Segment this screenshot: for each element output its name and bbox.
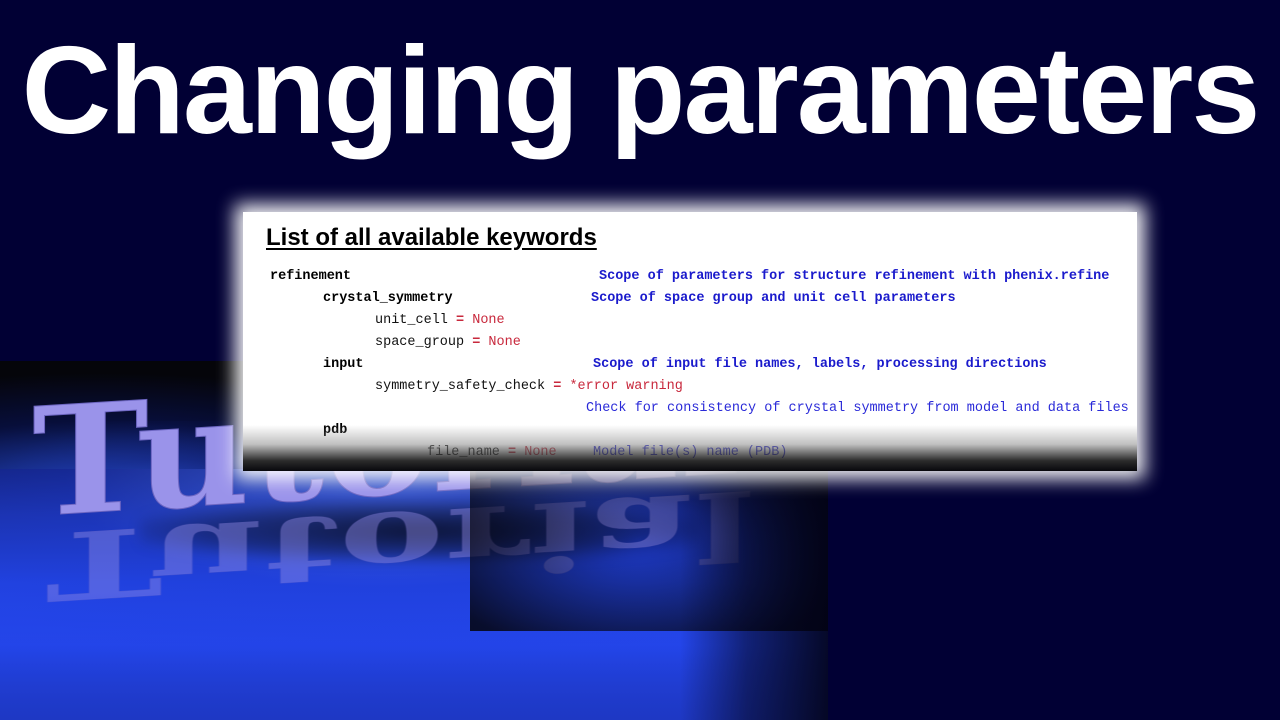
parameter-equals: = xyxy=(508,445,524,460)
keyword-doc-text: Scope of space group and unit cell param… xyxy=(591,292,956,306)
keyword-doc-text: Check for consistency of crystal symmetr… xyxy=(586,402,1129,416)
keyword-row: file_name = NoneModel file(s) name (PDB) xyxy=(243,446,1137,468)
parameter-value: *error warning xyxy=(569,379,682,394)
keyword-row: unit_cell = None xyxy=(243,314,1137,336)
keyword-row: pdb xyxy=(243,424,1137,446)
keyword-scope-name: refinement xyxy=(270,270,351,284)
panel-heading: List of all available keywords xyxy=(266,224,597,252)
parameter-equals: = xyxy=(456,313,472,328)
parameter-equals: = xyxy=(472,335,488,350)
keyword-scope-name: pdb xyxy=(323,424,347,438)
keyword-row: space_group = None xyxy=(243,336,1137,358)
keyword-panel: List of all available keywords refinemen… xyxy=(243,212,1137,471)
keyword-doc-text: Scope of parameters for structure refine… xyxy=(599,270,1109,284)
parameter-name: space_group xyxy=(375,335,472,350)
keyword-panel-container: List of all available keywords refinemen… xyxy=(243,212,1137,471)
keyword-parameter: symmetry_safety_check = *error warning xyxy=(375,380,683,394)
keyword-row: inputScope of input file names, labels, … xyxy=(243,358,1137,380)
keyword-row: symmetry_safety_check = *error warning xyxy=(243,380,1137,402)
parameter-name: unit_cell xyxy=(375,313,456,328)
keyword-parameter: file_name = None xyxy=(427,446,557,460)
slide-root: Changing parameters Tutorial Tutorial Li… xyxy=(0,0,1280,720)
keyword-doc-text: Model file(s) name (PDB) xyxy=(593,446,787,460)
keyword-row: refinementScope of parameters for struct… xyxy=(243,270,1137,292)
keyword-parameter: unit_cell = None xyxy=(375,314,505,328)
parameter-equals: = xyxy=(553,379,569,394)
page-title: Changing parameters xyxy=(0,26,1280,156)
parameter-value: None xyxy=(488,335,520,350)
keyword-doc-text: Scope of input file names, labels, proce… xyxy=(593,358,1047,372)
parameter-value: None xyxy=(524,445,556,460)
keyword-row: crystal_symmetryScope of space group and… xyxy=(243,292,1137,314)
keyword-parameter: space_group = None xyxy=(375,336,521,350)
parameter-name: file_name xyxy=(427,445,508,460)
parameter-value: None xyxy=(472,313,504,328)
keyword-list: refinementScope of parameters for struct… xyxy=(243,270,1137,468)
keyword-scope-name: input xyxy=(323,358,364,372)
parameter-name: symmetry_safety_check xyxy=(375,379,553,394)
keyword-scope-name: crystal_symmetry xyxy=(323,292,453,306)
keyword-row: Check for consistency of crystal symmetr… xyxy=(243,402,1137,424)
